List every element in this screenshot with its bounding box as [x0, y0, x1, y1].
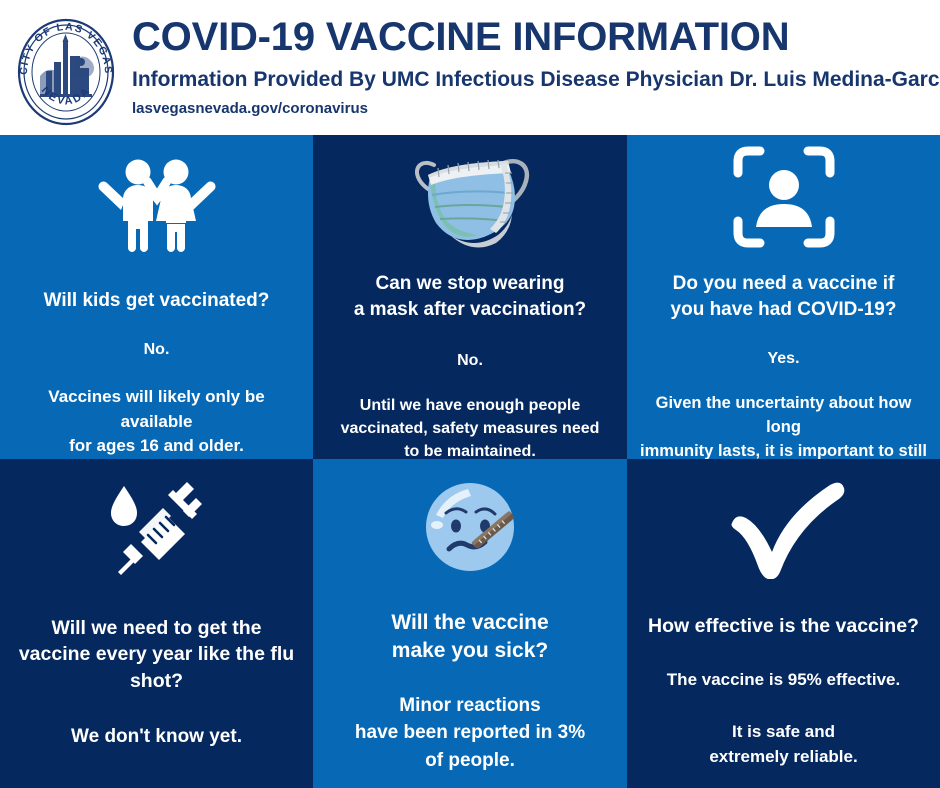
panel-answer-short: Yes. — [767, 348, 799, 370]
icon-container — [722, 469, 846, 585]
panel-answer-short: No. — [144, 339, 170, 361]
panel-answer-detail: It is safe and extremely reliable. — [709, 720, 857, 769]
icon-container — [732, 145, 836, 249]
panel-answer-short: We don't know yet. — [71, 724, 242, 750]
sick-face-thermometer-icon — [420, 477, 520, 577]
panel-kids-vaccinated: Will kids get vaccinated? No. Vaccines w… — [0, 135, 313, 459]
panel-answer-short: No. — [457, 350, 483, 372]
page-subtitle: Information Provided By UMC Infectious D… — [132, 67, 940, 93]
panel-vaccine-after-covid: Do you need a vaccine if you have had CO… — [627, 135, 940, 459]
panel-question: Can we stop wearing a mask after vaccina… — [354, 271, 586, 322]
panel-question: Will kids get vaccinated? — [44, 288, 270, 314]
panel-answer-detail: Given the uncertainty about how long imm… — [639, 392, 928, 459]
page-title: COVID-19 VACCINE INFORMATION — [132, 16, 940, 59]
checkmark-icon — [722, 475, 846, 579]
panel-question: Will we need to get the vaccine every ye… — [19, 615, 294, 694]
icon-container — [97, 151, 217, 262]
face-mask-icon — [404, 143, 536, 255]
city-of-las-vegas-seal-icon: CITY OF LAS VEGAS NEVADA — [10, 16, 122, 128]
panel-question: Will the vaccine make you sick? — [391, 609, 548, 666]
panel-vaccine-effectiveness: How effective is the vaccine? The vaccin… — [627, 459, 940, 788]
source-url[interactable]: lasvegasnevada.gov/coronavirus — [132, 100, 940, 119]
icon-container — [420, 471, 520, 583]
icon-container — [404, 143, 536, 255]
panel-grid: Will kids get vaccinated? No. Vaccines w… — [0, 135, 940, 788]
header-text-block: COVID-19 VACCINE INFORMATION Information… — [132, 8, 940, 119]
panel-stop-wearing-mask: Can we stop wearing a mask after vaccina… — [313, 135, 627, 459]
panel-answer-detail: Minor reactions have been reported in 3%… — [355, 692, 585, 775]
panel-vaccine-make-you-sick: Will the vaccine make you sick? Minor re… — [313, 459, 627, 788]
header: CITY OF LAS VEGAS NEVADA COVID-19 VACCIN… — [0, 0, 940, 135]
panel-answer-detail: Until we have enough people vaccinated, … — [341, 394, 600, 459]
panel-question: Do you need a vaccine if you have had CO… — [671, 271, 897, 322]
syringe-with-droplet-icon — [101, 476, 213, 586]
seal-container: CITY OF LAS VEGAS NEVADA — [0, 8, 132, 128]
panel-yearly-vaccine: Will we need to get the vaccine every ye… — [0, 459, 313, 788]
panel-answer-detail: Vaccines will likely only be available f… — [12, 385, 301, 459]
icon-container — [101, 473, 213, 589]
panel-question: How effective is the vaccine? — [648, 613, 919, 639]
person-in-frame-icon — [732, 145, 836, 249]
infographic-root: CITY OF LAS VEGAS NEVADA COVID-19 VACCIN… — [0, 0, 940, 788]
panel-answer-short: The vaccine is 95% effective. — [667, 669, 900, 692]
two-children-icon — [97, 154, 217, 258]
